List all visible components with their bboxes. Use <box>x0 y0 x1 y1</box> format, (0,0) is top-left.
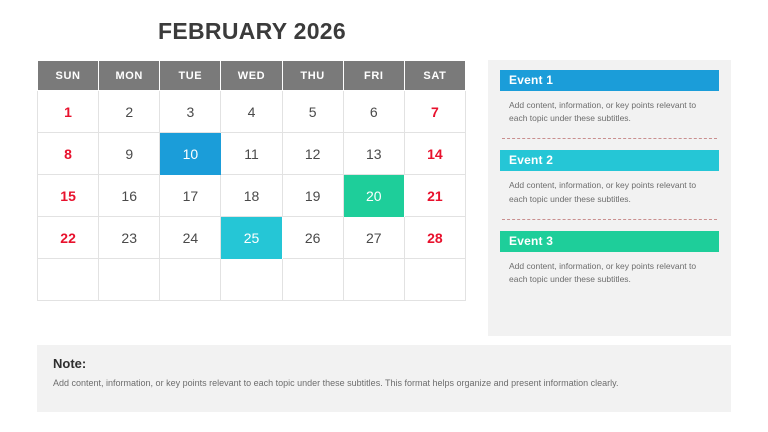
calendar-day-cell[interactable]: 23 <box>99 217 160 259</box>
calendar-day-cell[interactable]: 16 <box>99 175 160 217</box>
event-body-text-2: Add content, information, or key points … <box>509 179 710 205</box>
calendar-day-header-sun: SUN <box>38 61 99 91</box>
calendar-day-cell[interactable]: 20 <box>343 175 404 217</box>
calendar-empty-cell <box>221 259 282 301</box>
event-title-bar-1[interactable]: Event 1 <box>500 70 719 91</box>
event-block-1: Event 1Add content, information, or key … <box>500 70 719 125</box>
calendar-empty-cell <box>343 259 404 301</box>
calendar-week-row: 1234567 <box>38 91 466 133</box>
calendar-day-cell[interactable]: 26 <box>282 217 343 259</box>
event-block-2: Event 2Add content, information, or key … <box>500 150 719 205</box>
calendar-day-cell[interactable]: 6 <box>343 91 404 133</box>
calendar-empty-cell <box>404 259 465 301</box>
calendar-day-cell[interactable]: 24 <box>160 217 221 259</box>
calendar-day-cell[interactable]: 9 <box>99 133 160 175</box>
calendar-day-header-mon: MON <box>99 61 160 91</box>
calendar-week-row <box>38 259 466 301</box>
calendar-day-cell[interactable]: 27 <box>343 217 404 259</box>
calendar-empty-cell <box>282 259 343 301</box>
calendar-day-cell[interactable]: 14 <box>404 133 465 175</box>
calendar-day-header-wed: WED <box>221 61 282 91</box>
calendar-day-cell[interactable]: 4 <box>221 91 282 133</box>
calendar-day-header-sat: SAT <box>404 61 465 91</box>
calendar-empty-cell <box>38 259 99 301</box>
calendar-day-cell[interactable]: 13 <box>343 133 404 175</box>
calendar-week-row: 15161718192021 <box>38 175 466 217</box>
calendar-day-cell[interactable]: 10 <box>160 133 221 175</box>
calendar-day-cell[interactable]: 1 <box>38 91 99 133</box>
calendar-day-cell[interactable]: 18 <box>221 175 282 217</box>
event-block-3: Event 3Add content, information, or key … <box>500 231 719 286</box>
event-body-text-3: Add content, information, or key points … <box>509 260 710 286</box>
calendar-week-row: 22232425262728 <box>38 217 466 259</box>
page-title: FEBRUARY 2026 <box>37 18 467 45</box>
calendar-day-header-tue: TUE <box>160 61 221 91</box>
calendar-day-cell[interactable]: 11 <box>221 133 282 175</box>
calendar-day-cell[interactable]: 3 <box>160 91 221 133</box>
event-title-bar-3[interactable]: Event 3 <box>500 231 719 252</box>
calendar-day-cell[interactable]: 2 <box>99 91 160 133</box>
note-body: Add content, information, or key points … <box>53 376 715 390</box>
events-panel: Event 1Add content, information, or key … <box>488 60 731 336</box>
event-separator <box>502 138 717 139</box>
calendar-day-cell[interactable]: 21 <box>404 175 465 217</box>
calendar-day-cell[interactable]: 15 <box>38 175 99 217</box>
calendar-day-cell[interactable]: 8 <box>38 133 99 175</box>
event-body-text-1: Add content, information, or key points … <box>509 99 710 125</box>
calendar-day-cell[interactable]: 25 <box>221 217 282 259</box>
calendar-empty-cell <box>160 259 221 301</box>
calendar-grid: SUNMONTUEWEDTHUFRISAT 123456789101112131… <box>37 60 466 301</box>
calendar-day-cell[interactable]: 28 <box>404 217 465 259</box>
calendar-day-cell[interactable]: 12 <box>282 133 343 175</box>
event-separator <box>502 219 717 220</box>
calendar-day-header-thu: THU <box>282 61 343 91</box>
calendar-empty-cell <box>99 259 160 301</box>
calendar-body: 1234567891011121314151617181920212223242… <box>38 91 466 301</box>
calendar-day-cell[interactable]: 17 <box>160 175 221 217</box>
calendar-day-cell[interactable]: 5 <box>282 91 343 133</box>
note-box: Note: Add content, information, or key p… <box>37 345 731 412</box>
calendar-day-cell[interactable]: 7 <box>404 91 465 133</box>
calendar-day-cell[interactable]: 22 <box>38 217 99 259</box>
note-title: Note: <box>53 356 715 371</box>
calendar-day-header-fri: FRI <box>343 61 404 91</box>
calendar-header-row: SUNMONTUEWEDTHUFRISAT <box>38 61 466 91</box>
calendar-day-cell[interactable]: 19 <box>282 175 343 217</box>
calendar-week-row: 891011121314 <box>38 133 466 175</box>
event-title-bar-2[interactable]: Event 2 <box>500 150 719 171</box>
